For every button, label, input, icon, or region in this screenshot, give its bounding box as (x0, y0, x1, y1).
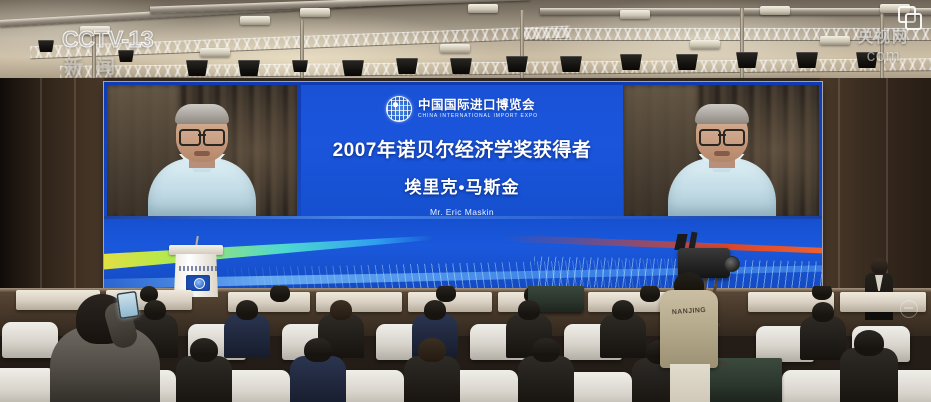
audience-head (270, 286, 290, 302)
audience-person (800, 316, 846, 360)
speaker-mouth (194, 151, 210, 156)
presentation-slide: 中国国际进口博览会 CHINA INTERNATIONAL IMPORT EXP… (301, 85, 623, 216)
audience-head (612, 300, 634, 320)
audience-head (330, 300, 352, 320)
operator-lower-body (670, 364, 710, 402)
stage-lamp-icon (856, 52, 878, 68)
audience-head (532, 338, 560, 362)
stage-lamp-icon (38, 40, 54, 52)
event-logo: 中国国际进口博览会 CHINA INTERNATIONAL IMPORT EXP… (301, 96, 623, 122)
stage-lamp-icon (238, 60, 260, 76)
audience-person (176, 356, 232, 402)
truss-beam (540, 8, 931, 15)
speaker-figure (142, 120, 262, 216)
speaker-hair (695, 104, 749, 124)
light-fixture (820, 36, 850, 45)
slide-title: 2007年诺贝尔经济学奖获得者 (301, 135, 623, 162)
light-fixture (690, 40, 720, 49)
speaker-video-feed-left (107, 85, 297, 216)
audience-head (812, 286, 832, 300)
stage-lamp-icon (396, 58, 418, 74)
audience-person (290, 356, 346, 402)
smartphone-icon (116, 291, 139, 320)
light-fixture (880, 4, 910, 13)
audience-desk (840, 292, 926, 312)
camera-lens-icon (724, 256, 740, 272)
light-fixture (200, 48, 230, 57)
speaker-glasses-icon (179, 129, 225, 142)
stage-lamp-icon (560, 56, 582, 72)
light-fixture (240, 16, 270, 25)
broadcast-frame: 中国国际进口博览会 CHINA INTERNATIONAL IMPORT EXP… (0, 0, 931, 402)
stage-lamp-icon (736, 52, 758, 68)
audience-head (304, 338, 332, 362)
audience-person (404, 356, 460, 402)
light-fixture (80, 26, 110, 35)
stage-lamp-icon (796, 52, 818, 68)
event-name-cn: 中国国际进口博览会 (418, 99, 538, 112)
stage-lamp-icon (118, 50, 134, 62)
light-fixture (440, 44, 470, 53)
audience-head (812, 302, 834, 322)
stage-lamp-icon (506, 56, 528, 72)
audience-head (436, 286, 456, 302)
speaker-mouth (714, 151, 730, 156)
audience-person (600, 314, 646, 358)
speaker-figure (662, 120, 782, 216)
podium-top (169, 245, 223, 255)
light-fixture (620, 10, 650, 19)
globe-emblem-icon (386, 96, 412, 122)
audience-desk (316, 292, 402, 312)
speaker-hair (175, 104, 229, 124)
audience-member-filming (40, 306, 170, 402)
event-logo-text: 中国国际进口博览会 CHINA INTERNATIONAL IMPORT EXP… (418, 99, 538, 119)
audience-head (518, 300, 540, 320)
stage-lamp-icon (186, 60, 208, 76)
light-fixture (468, 4, 498, 13)
audience-person (518, 356, 574, 402)
truss-lattice (520, 28, 931, 41)
audience-head (424, 300, 446, 320)
audience-head (236, 300, 258, 320)
audience-head (418, 338, 446, 362)
stage-lamp-icon (676, 54, 698, 70)
stage-lamp-icon (292, 60, 308, 72)
operator-vest (660, 290, 718, 368)
audience-person (840, 348, 898, 402)
audience-person (224, 314, 270, 358)
event-name-en: CHINA INTERNATIONAL IMPORT EXPO (418, 114, 538, 119)
speaker-glasses-icon (699, 129, 745, 142)
podium-text-strip (179, 266, 217, 271)
stage-lamp-icon (342, 60, 364, 76)
slide-speaker-name-cn: 埃里克•马斯金 (301, 173, 623, 198)
camera-operator: NANJING (648, 246, 740, 402)
light-fixture (760, 6, 790, 15)
speaker-video-feed-right (624, 85, 819, 216)
stage-lamp-icon (620, 54, 642, 70)
stage-lamp-icon (450, 58, 472, 74)
audience-head (190, 338, 218, 362)
light-fixture (300, 8, 330, 17)
audience-head (854, 330, 884, 356)
